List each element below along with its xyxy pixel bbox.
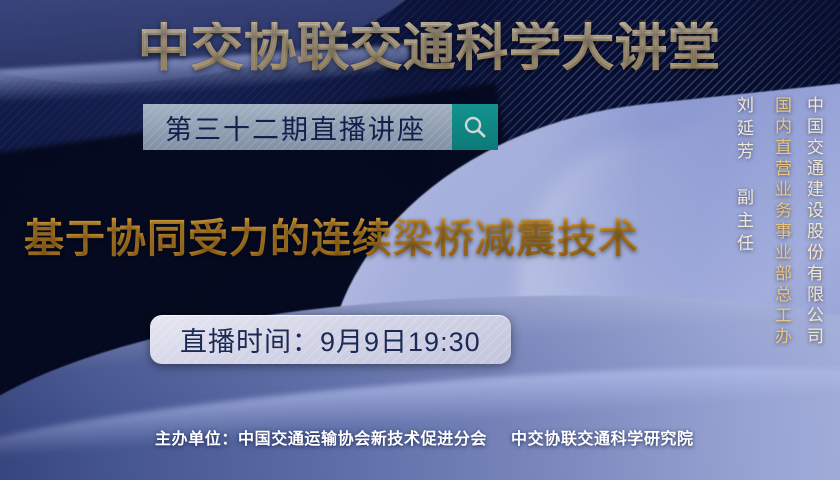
footer-org-1: 中国交通运输协会新技术促进分会 [238,431,487,448]
footer-prefix: 主办单位： [155,431,238,448]
topic-title: 基于协同受力的连续梁桥减震技术 [24,206,639,264]
footer-org-2: 中交协联交通科学研究院 [511,431,694,448]
subtitle-label: 第三十二期直播讲座 [143,104,452,150]
footer-organizers: 主办单位：中国交通运输协会新技术促进分会中交协联交通科学研究院 [155,425,694,449]
subtitle-bar: 第三十二期直播讲座 [143,104,498,150]
webinar-poster: 中交协联交通科学大讲堂 第三十二期直播讲座 基于协同受力的连续梁桥减震技术 直播… [0,0,840,480]
speaker-department: 国内直营业务事业部总工办 [769,96,794,348]
search-icon[interactable] [452,104,498,150]
page-title: 中交协联交通科学大讲堂 [138,22,721,74]
speaker-company: 中国交通建设股份有限公司 [801,96,826,348]
speaker-name-title: 刘延芳 副主任 [731,96,756,257]
live-time-badge: 直播时间：9月9日19:30 [150,315,511,364]
